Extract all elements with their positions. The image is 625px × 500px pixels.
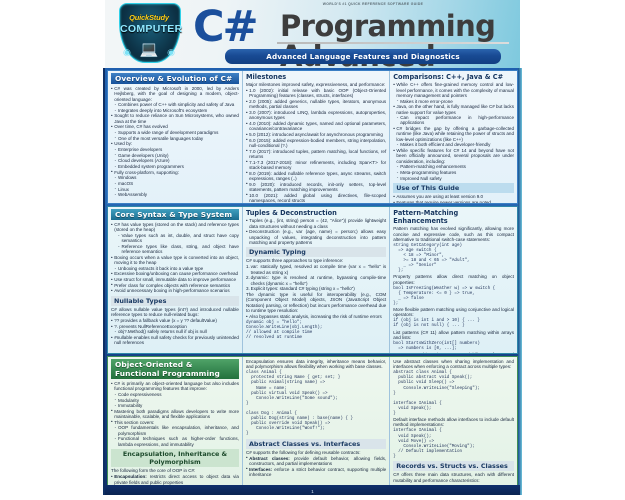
list-item: Boxing occurs when a value type is conve… — [111, 255, 239, 266]
list-item: Encapsulation: restricts direct access t… — [111, 474, 239, 485]
list-item: Used by: — [111, 141, 239, 146]
subtitle-banner: Advanced Language Features and Diagnosti… — [225, 49, 501, 64]
list-item: 1.0 (2002): initial release with basic O… — [246, 88, 386, 99]
column-2: Tuples & DeconstructionTuples (e.g., (in… — [243, 207, 390, 353]
list-item: Assumes you are using at least version 9… — [393, 194, 514, 199]
card-header: QuickStudy COMPUTER ◉ 💻 ◉ WORLD'S #1 QUI… — [105, 0, 520, 68]
list-item: Excessive boxing/unboxing can cause perf… — [111, 271, 239, 276]
list-item: Use struct for small, immutable data to … — [111, 277, 239, 282]
code-block: bool IsFreezing(Weather w) => w switch {… — [393, 286, 514, 306]
list-item: C# was created by Microsoft in 2000, led… — [111, 86, 239, 102]
column-3: Comparisons: C++, Java & C#While C++ off… — [390, 71, 517, 203]
list-item: C# has value types (stored on the stack)… — [111, 222, 239, 233]
list-item: 10.0 (2021): added global using directiv… — [246, 193, 386, 203]
reference-card-page: QuickStudy COMPUTER ◉ 💻 ◉ WORLD'S #1 QUI… — [0, 0, 625, 500]
list-item: obj?.Method() safely returns null if obj… — [111, 329, 239, 334]
column-heading: Comparisons: C++, Java & C# — [393, 73, 514, 81]
right-spine — [518, 68, 522, 495]
list-item: Unboxing extracts it back into a value t… — [111, 266, 239, 271]
column-heading: Tuples & Deconstruction — [246, 209, 386, 217]
card-body-frame: Overview & Evolution of C#C# was created… — [105, 68, 520, 493]
sub-heading: Nullable Types — [111, 296, 239, 306]
paragraph: More flexible pattern matching using con… — [393, 307, 514, 318]
section-columns: Object-Oriented & Functional Programming… — [108, 357, 517, 487]
bullet-list: While C++ offers fine-grained memory con… — [393, 82, 514, 181]
list-item: Explicit types: standard C# typing (stri… — [246, 286, 386, 291]
chat-icon: ◉ — [167, 48, 175, 57]
list-item: Avoid unnecessary boxing in high-perform… — [111, 288, 239, 293]
column-1: Overview & Evolution of C#C# was created… — [108, 71, 243, 203]
paragraph: C# allows nullable value types (int?) an… — [111, 307, 239, 318]
code-block: if (obj is int i and > 10) { ... } if (o… — [393, 318, 514, 328]
list-item: 6.0 (2015): added expression-bodied memb… — [246, 138, 386, 149]
list-item: Sought to reduce reliance on Sun Microsy… — [111, 113, 239, 124]
section-heading: Overview & Evolution of C# — [111, 73, 239, 84]
laptop-icon: 💻 — [140, 42, 159, 57]
sub-heading: Abstract Classes vs. Interfaces — [246, 439, 386, 449]
paragraph: C# supports three approaches to type inf… — [246, 258, 386, 263]
title-underline — [277, 42, 509, 44]
bullet-list: Assumes you are using at least version 9… — [393, 194, 514, 203]
bullet-list: ?? provides a fallback value (x = y ?? d… — [111, 318, 239, 346]
list-item: 5.0 (2012): introduced async/await for a… — [246, 132, 386, 137]
list-item: 7.0 (2017): introduced tuples, pattern m… — [246, 149, 386, 160]
sub-heading: Encapsulation, Inheritance & Polymorphis… — [111, 449, 239, 467]
list-item: Combines power of C++ with simplicity an… — [111, 102, 239, 107]
list-item: ?? provides a fallback value (x = y ?? d… — [111, 318, 239, 323]
code-block: class Animal { protected string Name { g… — [246, 370, 386, 436]
list-item: This section covers: — [111, 420, 239, 425]
list-item: Meta-programming features — [393, 170, 514, 175]
sub-heading: Use of This Guide — [393, 183, 514, 193]
list-item: Can impact performance in high-performan… — [393, 115, 514, 126]
bullet-list: Abstract classes: provide default behavi… — [246, 456, 386, 478]
bullet-list: 1.0 (2002): initial release with basic O… — [246, 88, 386, 203]
badge-computer-text: COMPUTER — [120, 23, 178, 35]
list-item: Enterprise developers — [111, 147, 239, 152]
paragraph: Property patterns allow direct matching … — [393, 274, 514, 285]
code-block: bool StartsWithZero(int[] numbers) => nu… — [393, 341, 514, 351]
list-item: var: statically typed, resolved at compi… — [246, 264, 386, 275]
list-item: Over time, C# has evolved — [111, 124, 239, 129]
list-item: Reference types like class, string, and … — [111, 244, 239, 255]
list-item: Code expressiveness — [111, 392, 239, 397]
list-item: Game developers (Unity) — [111, 153, 239, 158]
section-overview: Overview & Evolution of C#C# was created… — [107, 70, 518, 204]
code-block: string GetCategory(int age) => age switc… — [393, 243, 514, 274]
paragraph: List patterns (C# 11) allow pattern matc… — [393, 330, 514, 341]
list-item: Mastering both paradigms allows develope… — [111, 409, 239, 420]
list-item: Cloud developers (Azure) — [111, 158, 239, 163]
list-item: 9.0 (2020): introduced records, init-onl… — [246, 182, 386, 193]
list-item: Prefer class for complex objects with re… — [111, 283, 239, 288]
section-heading: Core Syntax & Type System — [111, 209, 239, 220]
list-item: 8.0 (2019): added nullable reference typ… — [246, 171, 386, 182]
list-item: Linux — [111, 187, 239, 192]
sections-root: Overview & Evolution of C#C# was created… — [107, 70, 518, 488]
section-columns: Core Syntax & Type SystemC# has value ty… — [108, 207, 517, 353]
bullet-list: C# is primarily an object-oriented langu… — [111, 381, 239, 447]
list-item: Embedded system programmers — [111, 164, 239, 169]
column-1: Core Syntax & Type SystemC# has value ty… — [108, 207, 243, 353]
list-item: Makes it both efficient and developer-fr… — [393, 142, 514, 147]
list-item: Supports a wide range of development par… — [111, 130, 239, 135]
column-2: MilestonesMajor milestones improved safe… — [243, 71, 390, 203]
paragraph: Pattern matching improves readability, s… — [393, 352, 514, 353]
title-language: C# — [193, 6, 257, 49]
list-item: dynamic: type is resolved at runtime, by… — [246, 275, 386, 286]
list-item: Functional techniques such as higher-ord… — [111, 436, 239, 447]
list-item: #nullable enables null safety checks for… — [111, 335, 239, 346]
paragraph: The dynamic type is useful for interoper… — [246, 292, 386, 313]
list-item: While specific features for C# 14 and be… — [393, 148, 514, 164]
code-block: abstract class Animal { public abstract … — [393, 370, 514, 416]
paragraph: C# supports the following for defining r… — [246, 450, 386, 455]
list-item: Also bypasses static analysis, increasin… — [246, 314, 386, 319]
list-item: Features that require newer versions are… — [393, 200, 514, 203]
badge-quickstudy-text: QuickStudy — [122, 13, 176, 22]
list-item: 4.0 (2010): added dynamic types, named a… — [246, 121, 386, 132]
bullet-list: C# has value types (stored on the stack)… — [111, 222, 239, 294]
paragraph: Use abstract classes when sharing implem… — [393, 359, 514, 370]
list-item: 3.0 (2007): introduced LINQ, lambda expr… — [246, 110, 386, 121]
column-3: Pattern-Matching EnhancementsPattern mat… — [390, 207, 517, 353]
left-spine — [103, 68, 105, 495]
paragraph: The following form the core of OOP in C#… — [111, 468, 239, 473]
list-item: Improved Null safety — [393, 176, 514, 181]
section-columns: Overview & Evolution of C#C# was created… — [108, 71, 517, 203]
list-item: Pattern-matching enhancements — [393, 164, 514, 169]
paragraph: Encapsulation ensures data integrity, in… — [246, 359, 386, 370]
list-item: macOS — [111, 181, 239, 186]
list-item: 2.0 (2005): added generics, nullable typ… — [246, 99, 386, 110]
paragraph: Major milestones improved safety, expres… — [246, 82, 386, 87]
globe-icon: ◉ — [123, 48, 131, 57]
paragraph: C# offers three main data structures, ea… — [393, 472, 514, 483]
list-item: One of the most versatile languages toda… — [111, 136, 239, 141]
list-item: Modularity — [111, 398, 239, 403]
bullet-list: C# was created by Microsoft in 2000, led… — [111, 86, 239, 198]
column-heading: Pattern-Matching Enhancements — [393, 209, 514, 225]
list-item: Value types such as int, double, and str… — [111, 233, 239, 244]
paragraph: Pattern matching has evolved significant… — [393, 226, 514, 242]
list-item: C# is primarily an object-oriented langu… — [111, 381, 239, 392]
list-item: Tuples (e.g., (int, string) person = (42… — [246, 218, 386, 229]
sub-heading: Dynamic Typing — [246, 247, 386, 257]
section-core-syntax: Core Syntax & Type SystemC# has value ty… — [107, 206, 518, 354]
bullet-list: Tuples (e.g., (int, string) person = (42… — [246, 218, 386, 245]
column-heading: Milestones — [246, 73, 386, 81]
code-block: interface IAnimal { void Speak(); void M… — [393, 428, 514, 459]
list-item: ?. prevents NullReferenceException — [111, 324, 239, 329]
header-kicker: WORLD'S #1 QUICK REFERENCE SOFTWARE GUID… — [253, 2, 493, 6]
code-block: dynamic obj = "hello"; Console.WriteLine… — [246, 320, 386, 340]
bullet-list: Also bypasses static analysis, increasin… — [246, 314, 386, 319]
subtitle-banner-label: Advanced Language Features and Diagnosti… — [266, 52, 460, 61]
list-item: Windows — [111, 175, 239, 180]
list-item: Fully cross-platform, supporting: — [111, 170, 239, 175]
list-item: WebAssembly — [111, 192, 239, 197]
list-item: Java, on the other hand, is fully manage… — [393, 104, 514, 115]
list-item: Immutability — [111, 403, 239, 408]
list-item: Interfaces: enforce a strict behavior co… — [246, 467, 386, 478]
list-item: OOP fundamentals like encapsulation, inh… — [111, 425, 239, 436]
list-item: 7.1-7.3 (2017-2018): minor refinements, … — [246, 160, 386, 171]
page-number: 1 — [105, 489, 520, 494]
list-item: Integrates deeply into Microsoft's ecosy… — [111, 108, 239, 113]
paragraph: Default interface methods allow interfac… — [393, 417, 514, 428]
column-2: Encapsulation ensures data integrity, in… — [243, 357, 390, 487]
list-item: Makes it more error-prone — [393, 99, 514, 104]
list-item: Abstract classes: provide default behavi… — [246, 456, 386, 467]
list-item: While C++ offers fine-grained memory con… — [393, 82, 514, 98]
column-3: Use abstract classes when sharing implem… — [390, 357, 517, 487]
bullet-list: var: statically typed, resolved at compi… — [246, 264, 386, 291]
sub-heading: Records vs. Structs vs. Classes — [393, 461, 514, 471]
column-1: Object-Oriented & Functional Programming… — [108, 357, 243, 487]
section-oop-functional: Object-Oriented & Functional Programming… — [107, 356, 518, 488]
list-item: Deconstruction (e.g., var (age, name) = … — [246, 229, 386, 245]
badge-icon-row: ◉ 💻 ◉ — [123, 37, 175, 57]
list-item: C# bridges the gap by offering a garbage… — [393, 126, 514, 142]
quickstudy-badge: QuickStudy COMPUTER ◉ 💻 ◉ — [113, 2, 185, 62]
section-heading: Object-Oriented & Functional Programming — [111, 359, 239, 379]
